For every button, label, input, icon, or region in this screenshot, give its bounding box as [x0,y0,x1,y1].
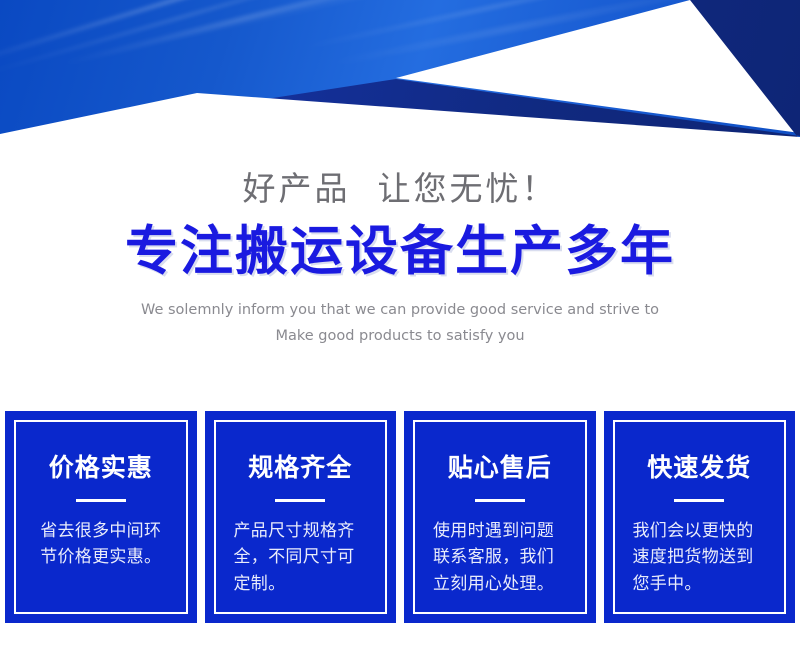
light-streak-icon [329,0,723,67]
card-title: 快速发货 [647,454,751,482]
card-content: 价格实惠 省去很多中间环节价格更实惠。 [14,420,188,614]
light-streak-icon [300,0,721,50]
hero-section: 好产品 让您无忧！ 专注搬运设备生产多年 We solemnly inform … [0,168,800,349]
card-content: 规格齐全 产品尺寸规格齐全，不同尺寸可定制。 [214,420,388,614]
light-streak-icon [0,0,432,76]
card-title: 价格实惠 [49,454,153,482]
card-divider [275,499,325,502]
light-streak-icon [0,0,458,67]
feature-card-fast-shipping[interactable]: 快速发货 我们会以更快的速度把货物送到您手中。 [604,411,796,623]
hero-subtitle: 好产品 让您无忧！ [0,168,800,209]
card-content: 快速发货 我们会以更快的速度把货物送到您手中。 [613,420,787,614]
feature-card-after-sales[interactable]: 贴心售后 使用时遇到问题联系客服，我们立刻用心处理。 [404,411,596,623]
card-divider [76,499,126,502]
decorative-header-banner [0,0,800,140]
feature-card-price[interactable]: 价格实惠 省去很多中间环节价格更实惠。 [5,411,197,623]
hero-english-tagline: We solemnly inform you that we can provi… [0,298,800,349]
card-description: 产品尺寸规格齐全，不同尺寸可定制。 [234,518,368,599]
card-description: 省去很多中间环节价格更实惠。 [34,518,168,572]
hero-english-line-1: We solemnly inform you that we can provi… [0,298,800,323]
card-content: 贴心售后 使用时遇到问题联系客服，我们立刻用心处理。 [413,420,587,614]
feature-card-list: 价格实惠 省去很多中间环节价格更实惠。 规格齐全 产品尺寸规格齐全，不同尺寸可定… [5,411,795,623]
light-streak-icon [139,0,687,49]
light-streak-icon [59,0,468,67]
card-description: 我们会以更快的速度把货物送到您手中。 [633,518,767,599]
card-divider [475,499,525,502]
card-title: 规格齐全 [248,454,352,482]
card-divider [674,499,724,502]
card-description: 使用时遇到问题联系客服，我们立刻用心处理。 [433,518,567,599]
card-title: 贴心售后 [448,454,552,482]
hero-english-line-2: Make good products to satisfy you [0,324,800,349]
promo-banner-page: 好产品 让您无忧！ 专注搬运设备生产多年 We solemnly inform … [0,0,800,657]
page-title: 专注搬运设备生产多年 [0,223,800,280]
feature-card-specifications[interactable]: 规格齐全 产品尺寸规格齐全，不同尺寸可定制。 [205,411,397,623]
